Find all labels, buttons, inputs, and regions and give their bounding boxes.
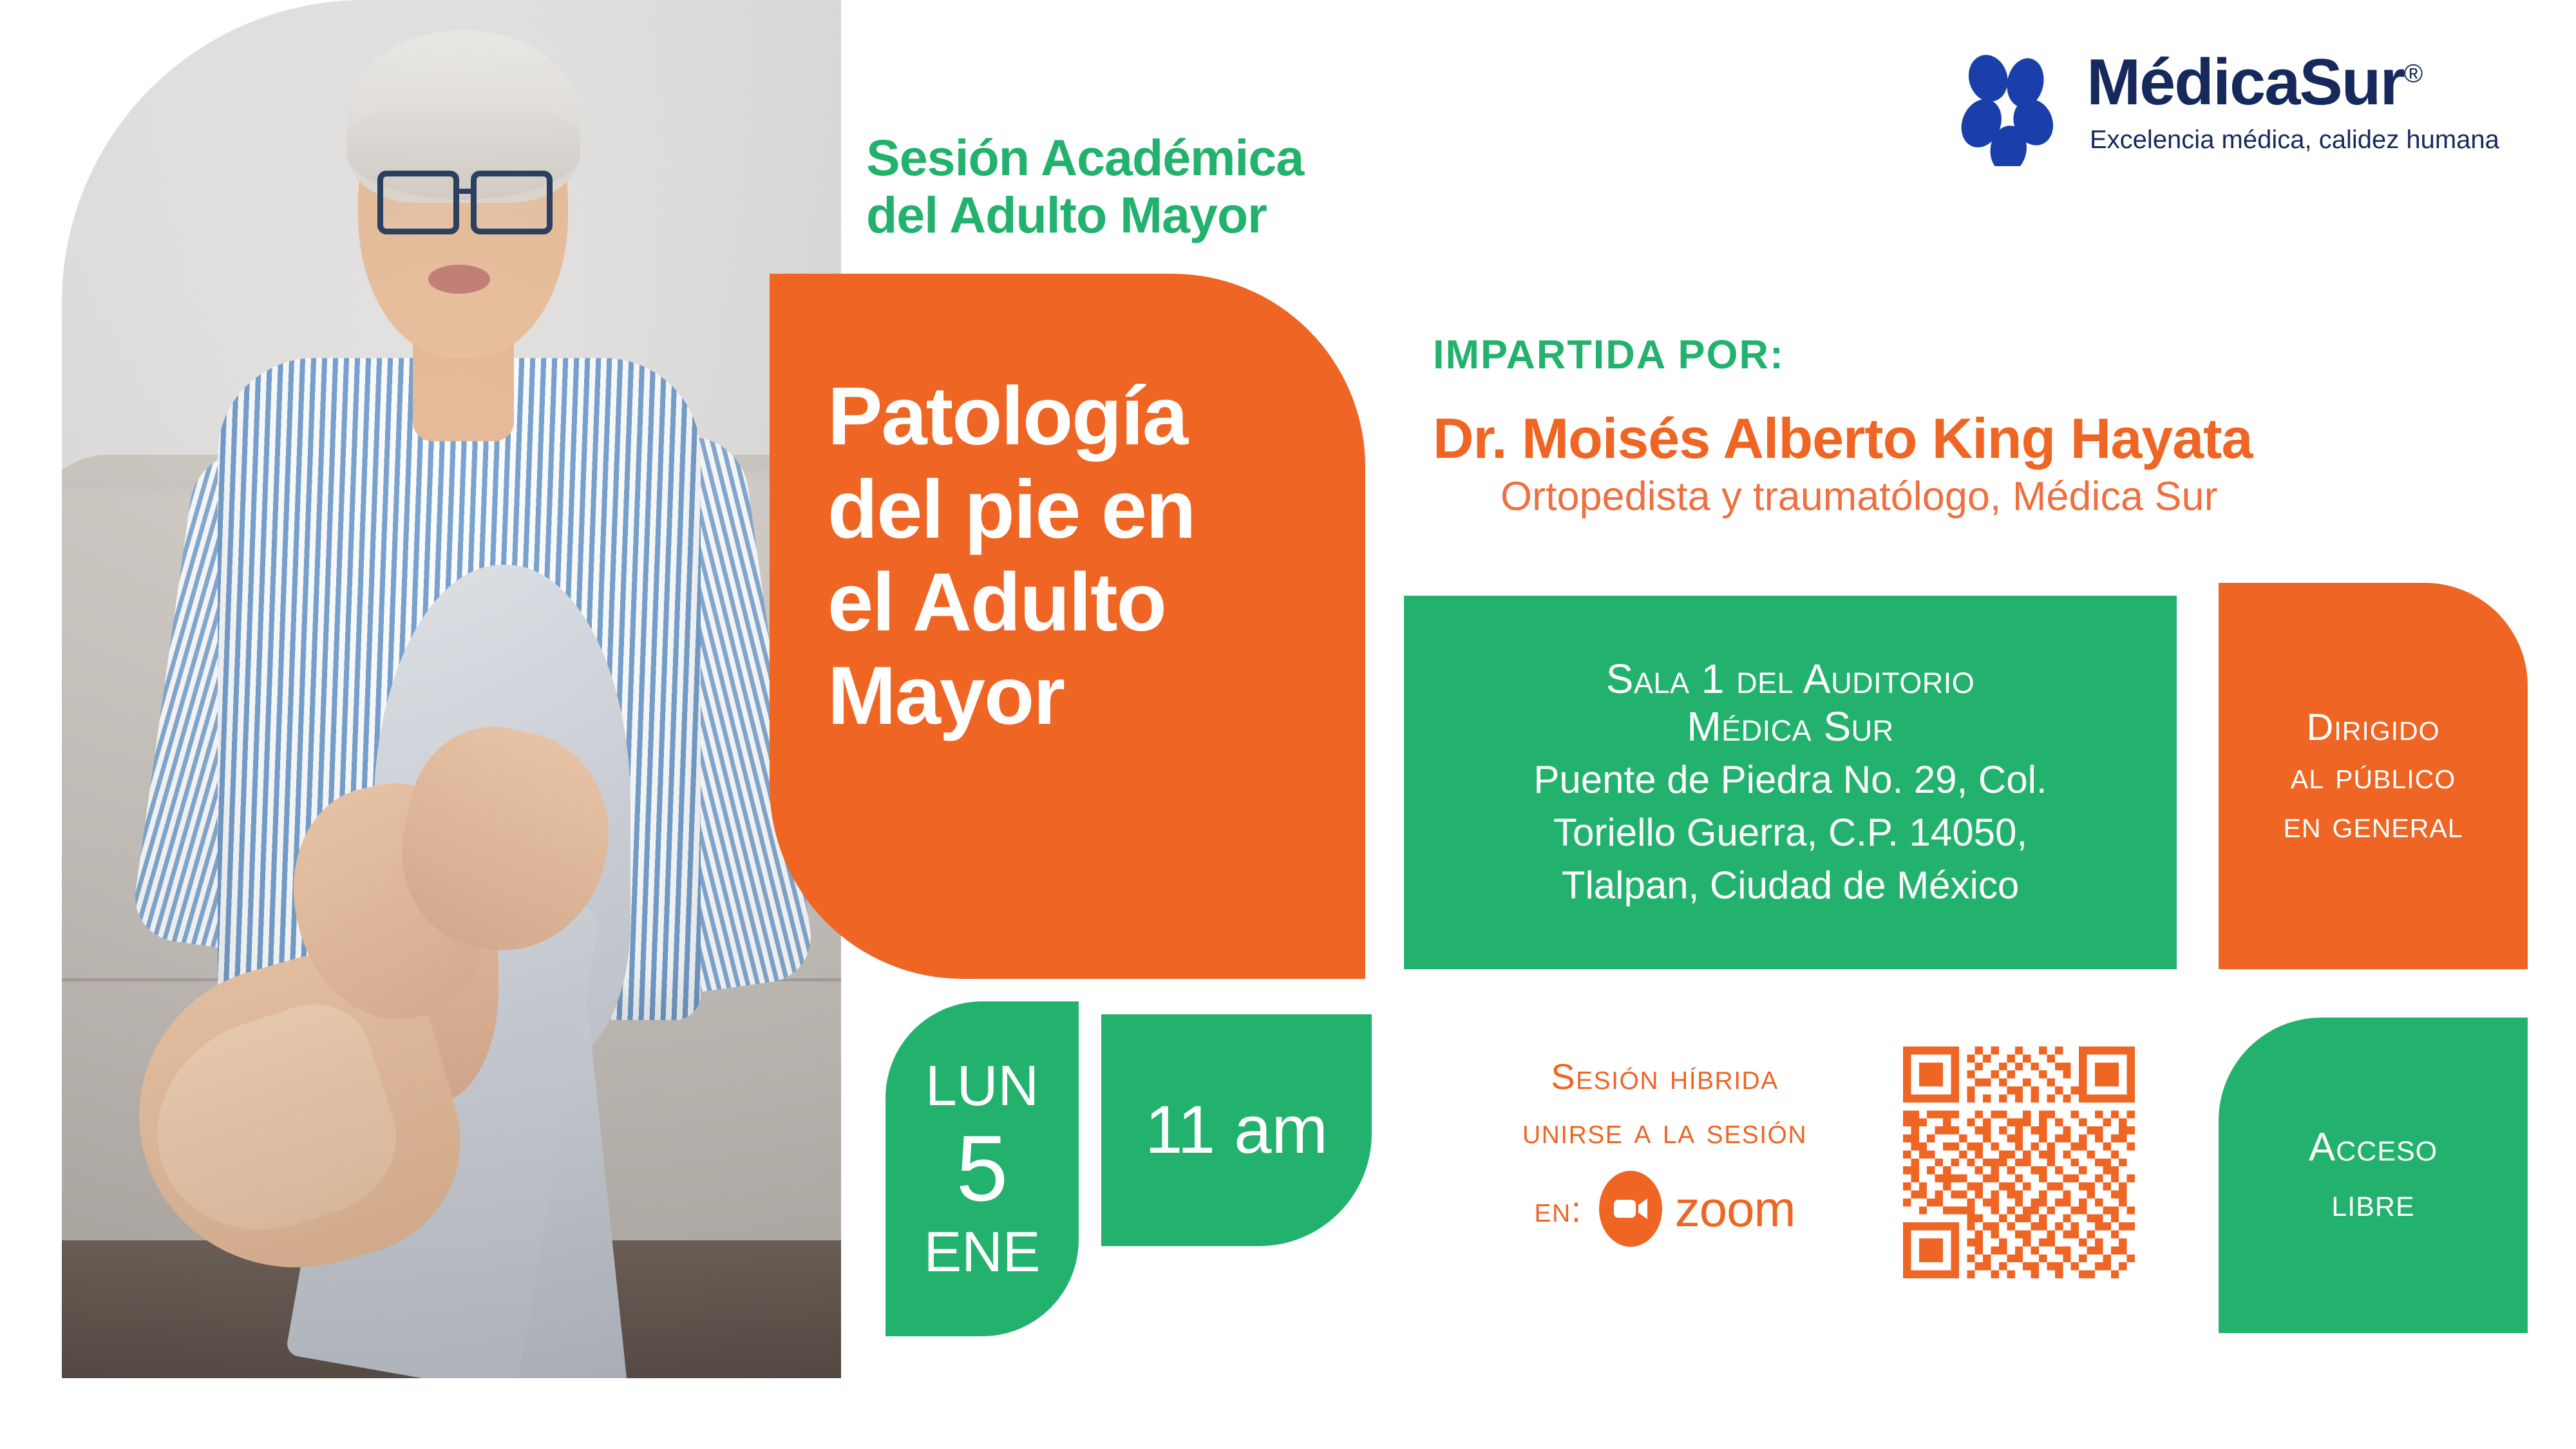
audience-panel: Dirigido al público en general xyxy=(2219,583,2528,969)
time-value: 11 am xyxy=(1145,1092,1328,1169)
hero-photo xyxy=(62,0,841,1378)
venue-room: Sala 1 del Auditorio xyxy=(1606,655,1975,703)
speaker-label: IMPARTIDA POR: xyxy=(1433,332,1785,378)
kicker-line-2: del Adulto Mayor xyxy=(866,186,1446,243)
zoom-camera-icon xyxy=(1599,1171,1662,1247)
title-line-3: el Adulto xyxy=(828,556,1362,650)
date-month: ENE xyxy=(924,1224,1041,1280)
title-line-2: del pie en xyxy=(828,464,1362,557)
photo-vignette xyxy=(62,0,841,1378)
audience-line-1: Dirigido xyxy=(2283,703,2463,752)
access-panel: Acceso libre xyxy=(2219,1018,2528,1333)
event-title: Patología del pie en el Adulto Mayor xyxy=(828,370,1362,743)
venue-colony: Toriello Guerra, C.P. 14050, xyxy=(1553,809,2027,857)
kicker-line-1: Sesión Académica xyxy=(866,129,1446,186)
access-line-2: libre xyxy=(2309,1175,2438,1231)
title-line-4: Mayor xyxy=(828,650,1362,743)
medica-sur-logo: MédicaSur® Excelencia médica, calidez hu… xyxy=(1958,48,2524,171)
title-line-1: Patología xyxy=(828,370,1362,464)
logo-registered-mark: ® xyxy=(2404,59,2421,88)
speaker-role: Ortopedista y traumatólogo, Médica Sur xyxy=(1501,473,2218,520)
event-series-kicker: Sesión Académica del Adulto Mayor xyxy=(866,129,1446,244)
session-hybrid-label: Sesión híbrida xyxy=(1426,1050,1903,1104)
audience-line-3: en general xyxy=(2283,800,2463,849)
venue-city: Tlalpan, Ciudad de México xyxy=(1562,862,2019,909)
date-badge: LUN 5 ENE xyxy=(885,1001,1079,1336)
session-join-label: unirse a la sesión xyxy=(1426,1104,1903,1158)
qr-code[interactable] xyxy=(1903,1046,2135,1278)
speaker-name: Dr. Moisés Alberto King Hayata xyxy=(1433,406,2252,471)
venue-building: Médica Sur xyxy=(1687,703,1893,750)
access-line-1: Acceso xyxy=(2309,1120,2438,1175)
date-weekday: LUN xyxy=(925,1057,1039,1114)
photo-illustration xyxy=(62,0,841,1378)
logo-wordmark: MédicaSur® xyxy=(2087,46,2421,120)
zoom-wordmark: zoom xyxy=(1675,1180,1795,1238)
hybrid-session-block: Sesión híbrida unirse a la sesión en: zo… xyxy=(1426,1050,1903,1247)
logo-tagline: Excelencia médica, calidez humana xyxy=(2090,126,2499,155)
zoom-logo[interactable]: zoom xyxy=(1599,1171,1795,1247)
venue-street: Puente de Piedra No. 29, Col. xyxy=(1533,756,2047,804)
venue-panel: Sala 1 del Auditorio Médica Sur Puente d… xyxy=(1404,596,2177,969)
flyer-canvas: Sesión Académica del Adulto Mayor Médica… xyxy=(0,0,2576,1449)
video-camera-glyph xyxy=(1613,1196,1649,1222)
date-day: 5 xyxy=(956,1119,1009,1218)
audience-line-2: al público xyxy=(2283,752,2463,800)
logo-name-text: MédicaSur xyxy=(2087,46,2404,118)
medica-sur-petals-icon xyxy=(1958,53,2070,166)
time-badge: 11 am xyxy=(1101,1014,1372,1246)
session-platform-prefix: en: xyxy=(1535,1188,1582,1230)
